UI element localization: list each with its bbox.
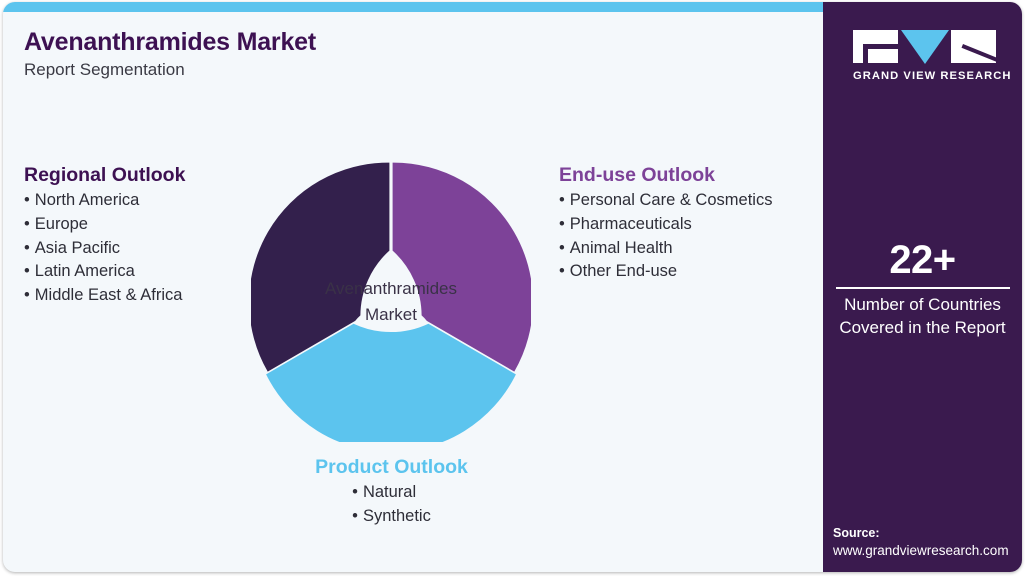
page-title: Avenanthramides Market — [24, 28, 316, 57]
list-item: •Middle East & Africa — [24, 284, 185, 308]
list-item-label: North America — [35, 191, 140, 209]
logo-g-icon — [853, 30, 898, 63]
enduse-outlook-list: •Personal Care & Cosmetics •Pharmaceutic… — [559, 189, 772, 284]
list-item-label: Other End-use — [570, 262, 677, 280]
segmentation-donut-chart: Avenanthramides Market — [251, 162, 531, 442]
bullet-icon: • — [352, 483, 358, 501]
bullet-icon: • — [24, 215, 30, 233]
list-item: •Natural — [352, 481, 431, 505]
regional-outlook-block: Regional Outlook •North America •Europe … — [24, 164, 185, 308]
list-item: •Animal Health — [559, 237, 772, 261]
regional-outlook-list: •North America •Europe •Asia Pacific •La… — [24, 189, 185, 308]
bullet-icon: • — [559, 215, 565, 233]
list-item: •Synthetic — [352, 505, 431, 529]
infographic-page: Avenanthramides Market Report Segmentati… — [0, 0, 1025, 576]
logo-r-icon — [951, 30, 996, 63]
source-label: Source: — [833, 526, 880, 540]
list-item-label: Europe — [35, 215, 88, 233]
logo-wordmark: GRAND VIEW RESEARCH — [853, 70, 996, 82]
product-outlook-block: Product Outlook •Natural •Synthetic — [299, 456, 484, 529]
list-item-label: Synthetic — [363, 507, 431, 525]
list-item-label: Personal Care & Cosmetics — [570, 191, 773, 209]
bullet-icon: • — [24, 286, 30, 304]
product-outlook-heading: Product Outlook — [299, 456, 484, 479]
logo-marks — [853, 30, 996, 63]
enduse-outlook-heading: End-use Outlook — [559, 164, 772, 187]
bullet-icon: • — [559, 239, 565, 257]
logo-v-triangle-icon — [901, 30, 949, 64]
infographic-card: Avenanthramides Market Report Segmentati… — [3, 2, 1022, 572]
regional-outlook-heading: Regional Outlook — [24, 164, 185, 187]
list-item-label: Latin America — [35, 262, 135, 280]
brand-panel: GRAND VIEW RESEARCH 22+ Number of Countr… — [823, 2, 1022, 572]
bullet-icon: • — [24, 191, 30, 209]
bullet-icon: • — [559, 262, 565, 280]
list-item: •Latin America — [24, 260, 185, 284]
list-item: •Pharmaceuticals — [559, 213, 772, 237]
list-item-label: Animal Health — [570, 239, 673, 257]
bullet-icon: • — [24, 262, 30, 280]
donut-svg — [251, 162, 531, 442]
source-url[interactable]: www.grandviewresearch.com — [833, 543, 1009, 558]
list-item-label: Natural — [363, 483, 416, 501]
stat-caption: Number of Countries Covered in the Repor… — [823, 293, 1022, 339]
enduse-outlook-block: End-use Outlook •Personal Care & Cosmeti… — [559, 164, 772, 284]
grand-view-research-logo: GRAND VIEW RESEARCH — [853, 30, 996, 82]
stat-divider — [836, 287, 1010, 289]
list-item-label: Middle East & Africa — [35, 286, 183, 304]
list-item-label: Pharmaceuticals — [570, 215, 692, 233]
bullet-icon: • — [559, 191, 565, 209]
bullet-icon: • — [352, 507, 358, 525]
list-item: •North America — [24, 189, 185, 213]
product-outlook-list: •Natural •Synthetic — [352, 481, 431, 529]
stat-caption-line2: Covered in the Report — [823, 316, 1022, 339]
list-item-label: Asia Pacific — [35, 239, 120, 257]
list-item: •Other End-use — [559, 260, 772, 284]
bullet-icon: • — [24, 239, 30, 257]
list-item: •Europe — [24, 213, 185, 237]
top-accent-bar — [3, 2, 825, 12]
stat-caption-line1: Number of Countries — [823, 293, 1022, 316]
page-subtitle: Report Segmentation — [24, 60, 185, 80]
stat-number: 22+ — [823, 238, 1022, 283]
list-item: •Personal Care & Cosmetics — [559, 189, 772, 213]
list-item: •Asia Pacific — [24, 237, 185, 261]
